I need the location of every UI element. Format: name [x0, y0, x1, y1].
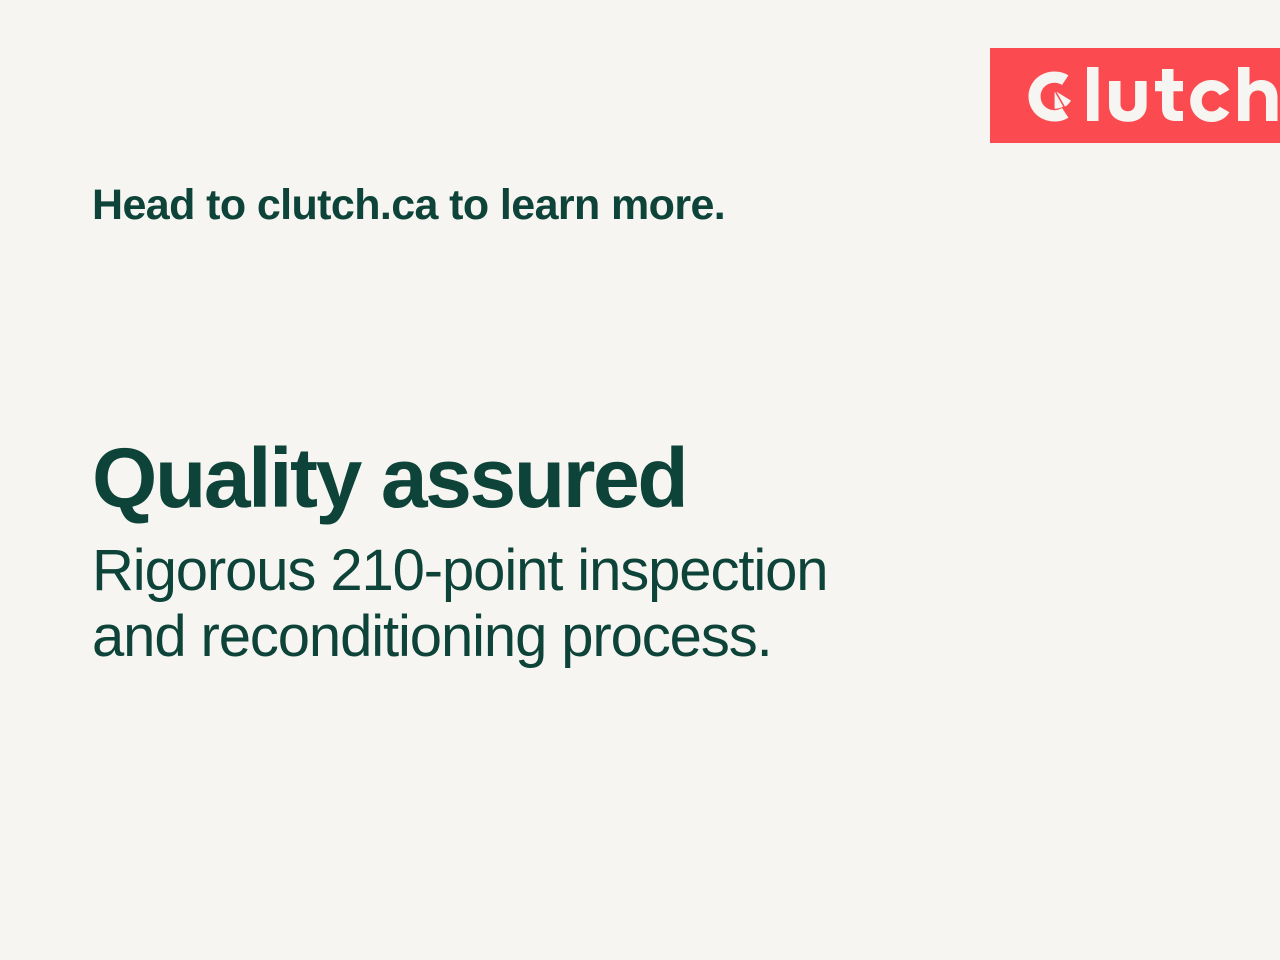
- subhead-text: Rigorous 210-point inspection and recond…: [92, 538, 992, 670]
- page-title: Quality assured: [92, 432, 992, 524]
- subhead-line-1: Rigorous 210-point inspection: [92, 538, 992, 604]
- clutch-logo: clutch: [1023, 65, 1280, 127]
- headline-block: Quality assured Rigorous 210-point inspe…: [92, 432, 992, 670]
- subhead-line-2: and reconditioning process.: [92, 604, 992, 670]
- eyebrow-text: Head to clutch.ca to learn more.: [92, 177, 725, 233]
- slide-canvas: clutch Head to clutch.ca to learn more. …: [0, 0, 1280, 960]
- brand-banner: clutch: [990, 48, 1280, 143]
